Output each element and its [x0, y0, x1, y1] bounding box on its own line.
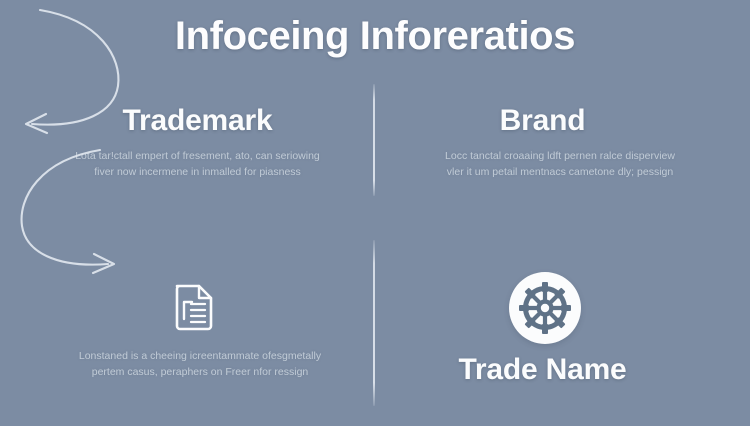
page-title: Infoceing Inforeratios: [0, 14, 750, 59]
gear-icon: [509, 272, 581, 344]
divider-top: [373, 84, 375, 196]
infographic-canvas: Infoceing Inforeratios Trademark Lota ta…: [0, 0, 750, 426]
section-heading-brand: Brand: [400, 104, 685, 138]
document-icon: [166, 281, 218, 333]
gear-icon-glyph: [518, 281, 572, 335]
document-icon-glyph: [166, 281, 218, 333]
section-body-tradename: Lonstaned is a cheeing icreentammate ofe…: [75, 348, 325, 380]
section-heading-trademark: Trademark: [55, 104, 340, 138]
section-heading-tradename: Trade Name: [400, 353, 685, 387]
section-body-brand: Locc tanctal croaaing ldft pernen ralce …: [440, 148, 680, 180]
section-body-trademark: Lota tar!ctall empert of fresement, ato,…: [75, 148, 320, 180]
divider-bottom: [373, 240, 375, 406]
